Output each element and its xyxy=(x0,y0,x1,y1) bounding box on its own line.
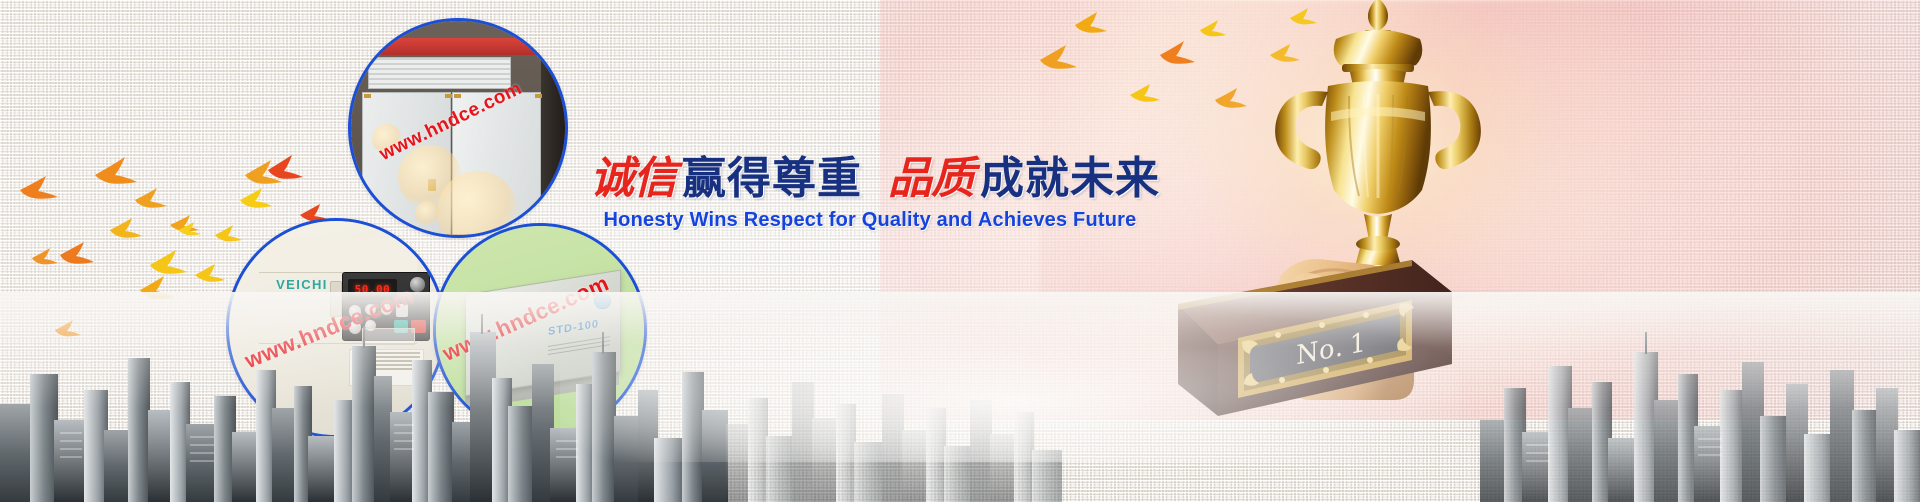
cabinet-side-panel xyxy=(541,47,565,235)
inverter-potentiometer-knob xyxy=(410,277,425,292)
cabinet-hinge xyxy=(535,94,542,98)
cabinet-hinge xyxy=(454,94,461,98)
slogan-cn-red-1: 诚信 xyxy=(590,153,682,204)
inverter-top-cover xyxy=(259,238,417,273)
city-skyline-silhouette xyxy=(0,312,1920,502)
product-circle-control-cabinet[interactable]: www.hndce.com xyxy=(348,18,568,238)
slogan-cn-red-2: 品质 xyxy=(888,153,980,204)
slogan-cn-blue-1: 赢得尊重 xyxy=(682,153,862,204)
inverter-brand-label: VEICHI xyxy=(276,277,328,292)
promotional-banner: www.hndce.com VEICHI 50.00 xyxy=(0,0,1920,502)
cabinet-vent-grille xyxy=(368,57,511,89)
cabinet-top-band xyxy=(364,38,557,55)
cabinet-hinge xyxy=(445,94,452,98)
cabinet-hinge xyxy=(364,94,371,98)
